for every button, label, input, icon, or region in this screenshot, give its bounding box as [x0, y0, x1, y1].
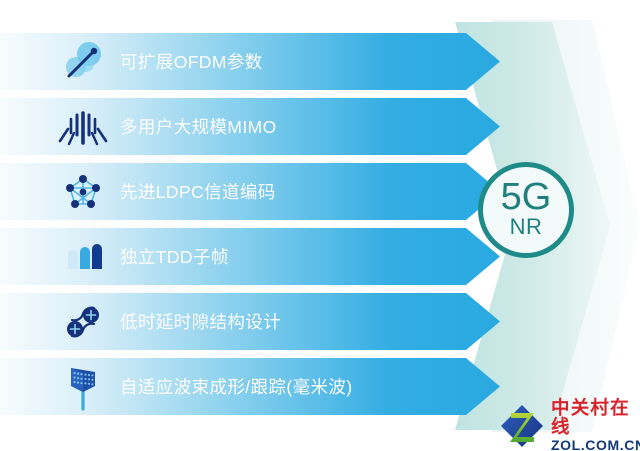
- five-g-nr-badge: 5G NR: [478, 162, 574, 258]
- feature-row[interactable]: 多用户大规模MIMO: [0, 98, 500, 155]
- zol-logo: 中关村在线 ZOL.COM.CN: [500, 398, 640, 451]
- badge-sub-text: NR: [510, 216, 543, 238]
- badge-main-text: 5G: [501, 180, 552, 215]
- feature-label: 可扩展OFDM参数: [120, 49, 263, 74]
- zol-z-diamond-icon: [500, 404, 544, 448]
- feature-label: 先进LDPC信道编码: [120, 179, 276, 204]
- zol-logo-cn: 中关村在线: [551, 398, 640, 437]
- infographic-canvas: 可扩展OFDM参数: [0, 0, 640, 451]
- feature-label: 自适应波束成形/跟踪(毫米波): [120, 374, 353, 399]
- low-latency-infinity-icon: [54, 296, 112, 348]
- beamforming-panel-icon: [54, 361, 112, 413]
- zol-logo-text: 中关村在线 ZOL.COM.CN: [551, 398, 640, 451]
- feature-row[interactable]: 独立TDD子帧: [0, 228, 500, 285]
- feature-label: 低时延时隙结构设计: [120, 309, 281, 334]
- ldpc-network-graph-icon: [54, 166, 112, 218]
- feature-row[interactable]: 可扩展OFDM参数: [0, 33, 500, 90]
- feature-row[interactable]: 先进LDPC信道编码: [0, 163, 500, 220]
- zol-logo-en: ZOL.COM.CN: [551, 438, 640, 451]
- tdd-subframe-bars-icon: [54, 231, 112, 283]
- scalable-parameter-arrow-icon: [54, 36, 112, 88]
- feature-row[interactable]: 低时延时隙结构设计: [0, 293, 500, 350]
- feature-label: 多用户大规模MIMO: [120, 114, 277, 139]
- mimo-antenna-array-icon: [54, 101, 112, 153]
- feature-label: 独立TDD子帧: [120, 244, 229, 269]
- feature-row[interactable]: 自适应波束成形/跟踪(毫米波): [0, 358, 500, 415]
